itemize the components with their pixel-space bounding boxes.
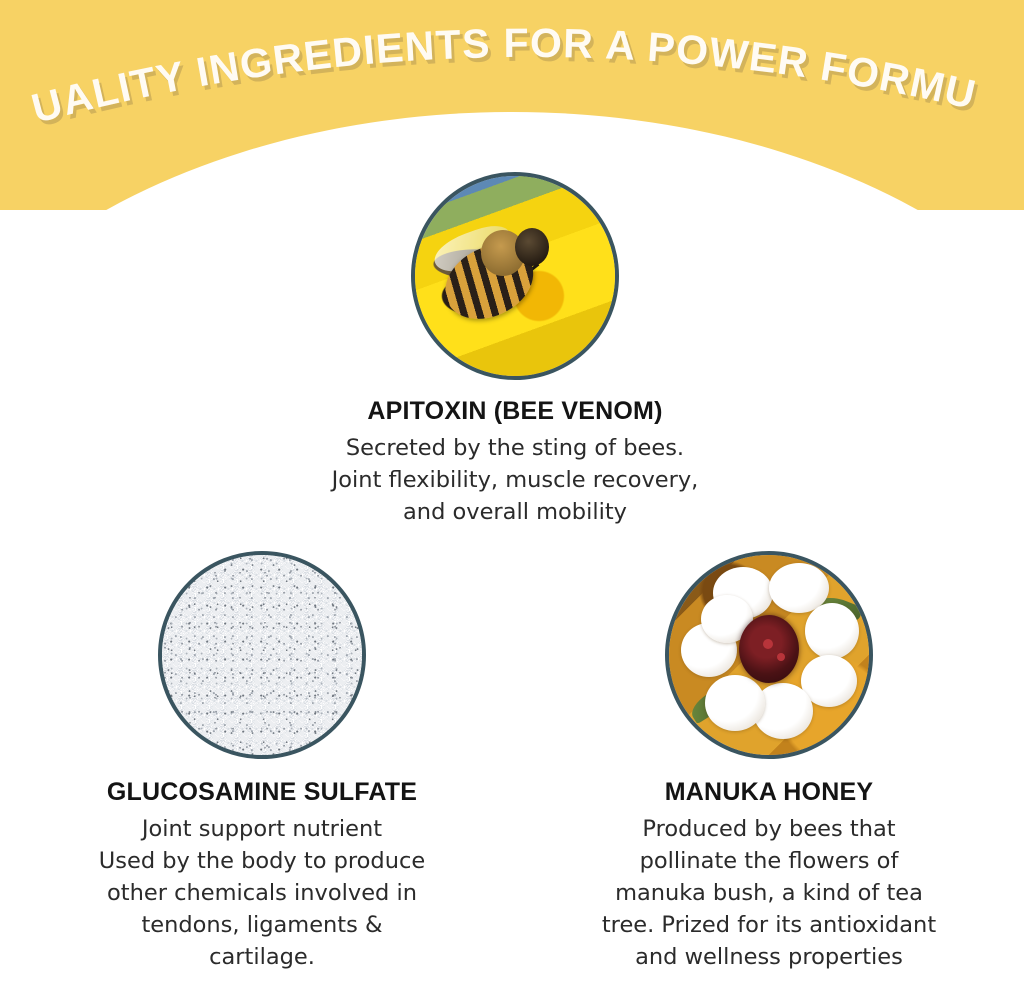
ingredients-list: APITOXIN (BEE VENOM) Secreted by the sti… (0, 0, 1024, 998)
ingredient-title: MANUKA HONEY (517, 777, 1021, 808)
bee-flower-image-layer (415, 176, 615, 376)
flower-stamen-dot (763, 639, 773, 649)
manuka-flower-photo (665, 551, 873, 759)
powder-image-layer (162, 555, 362, 755)
flower-stamen-dot (777, 653, 785, 661)
flower-center-shape (739, 615, 799, 683)
ingredient-card-apitoxin: APITOXIN (BEE VENOM) Secreted by the sti… (262, 172, 768, 529)
ingredient-card-glucosamine: GLUCOSAMINE SULFATE Joint support nutrie… (10, 551, 514, 974)
bee-head-shape (515, 228, 549, 266)
white-powder-photo (158, 551, 366, 759)
petal-shape (805, 603, 859, 659)
ingredient-description: Joint support nutrient Used by the body … (10, 814, 514, 974)
manuka-image-layer (669, 555, 869, 755)
ingredient-title: APITOXIN (BEE VENOM) (262, 396, 768, 427)
petal-shape (705, 675, 765, 731)
ingredient-card-manuka: MANUKA HONEY Produced by bees that polli… (517, 551, 1021, 974)
bee-on-flower-photo (411, 172, 619, 380)
ingredient-title: GLUCOSAMINE SULFATE (10, 777, 514, 808)
ingredient-description: Secreted by the sting of bees. Joint fle… (262, 433, 768, 529)
ingredients-infographic: QUALITY INGREDIENTS FOR A POWER FORMULA … (0, 0, 1024, 998)
ingredient-description: Produced by bees that pollinate the flow… (517, 814, 1021, 974)
